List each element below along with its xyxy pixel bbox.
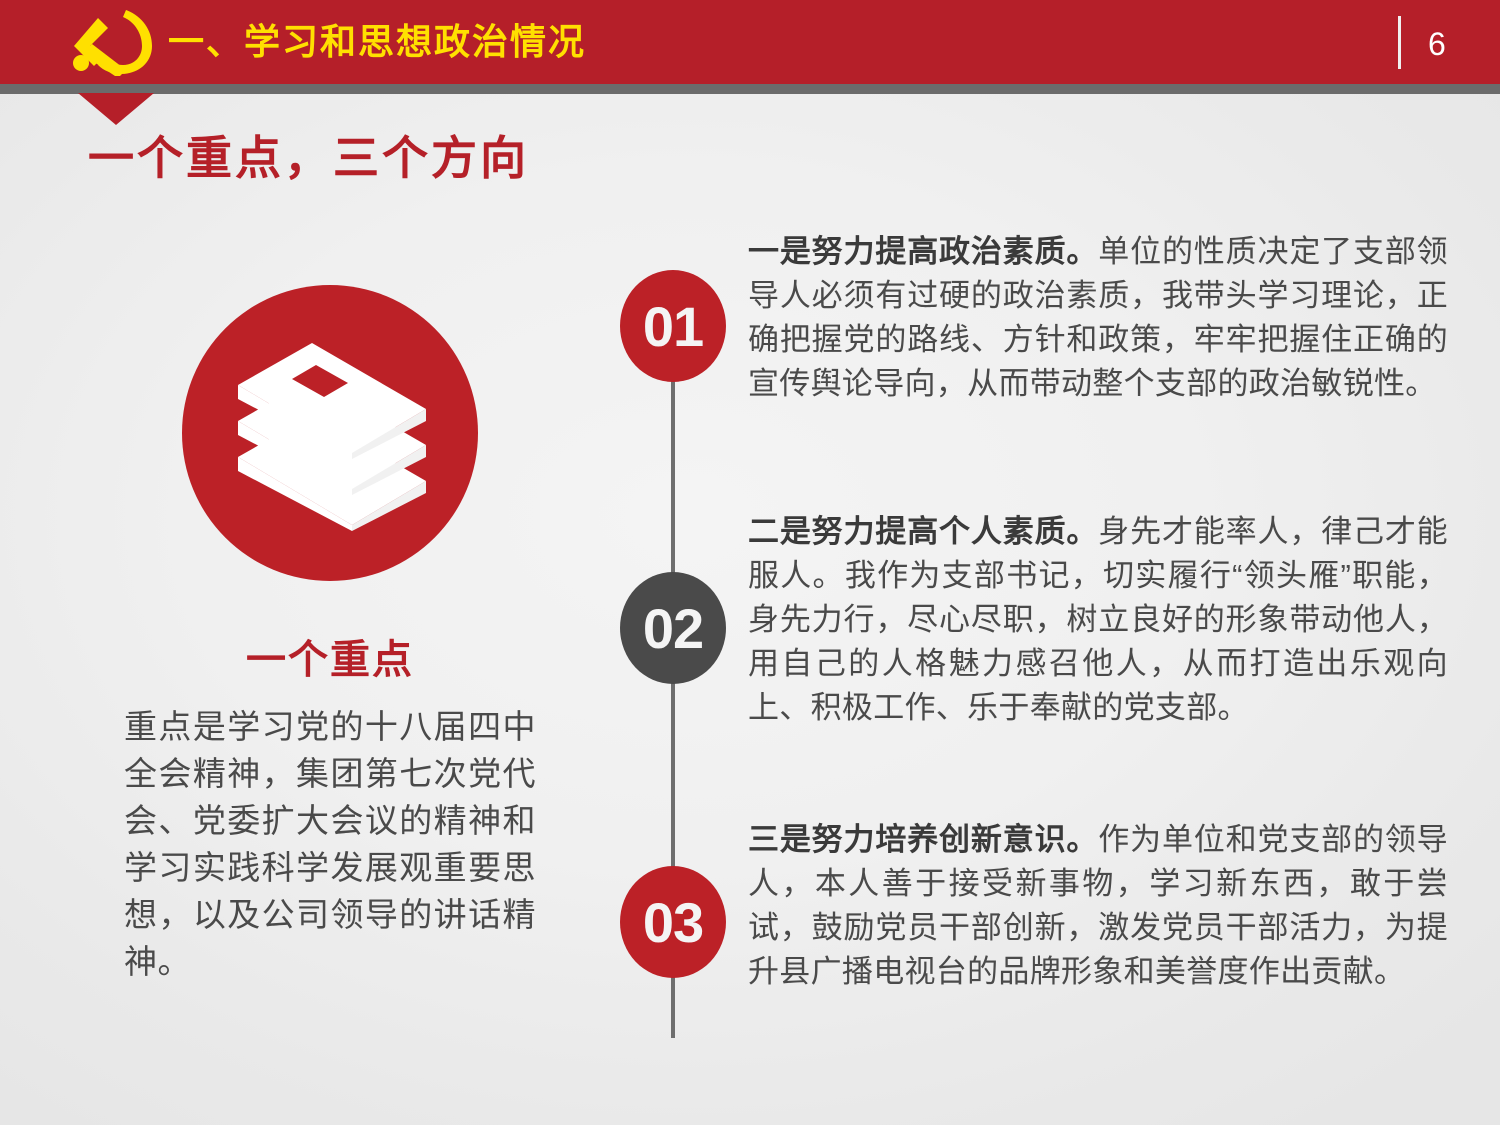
page-title: 一个重点，三个方向 (88, 128, 529, 188)
timeline-text-01: 一是努力提高政治素质。单位的性质决定了支部领导人必须有过硬的政治素质，我带头学习… (748, 230, 1448, 406)
header-underline-strip (0, 84, 1500, 94)
page-number-divider (1398, 16, 1401, 69)
book-stack-icon (182, 285, 478, 581)
timeline-badge-03[interactable]: 03 (620, 866, 726, 978)
hammer-sickle-party-emblem-icon (68, 8, 154, 76)
header-bar: 一、学习和思想政治情况 6 (0, 0, 1500, 84)
timeline-text-02: 二是努力提高个人素质。身先才能率人，律己才能服人。我作为支部书记，切实履行“领头… (748, 510, 1448, 730)
timeline-list: 01 一是努力提高政治素质。单位的性质决定了支部领导人必须有过硬的政治素质，我带… (620, 230, 1460, 1060)
left-panel-body-text: 重点是学习党的十八届四中全会精神，集团第七次党代会、党委扩大会议的精神和学习实践… (100, 703, 560, 985)
left-panel: 一个重点 重点是学习党的十八届四中全会精神，集团第七次党代会、党委扩大会议的精神… (100, 285, 560, 985)
left-panel-subtitle: 一个重点 (100, 627, 560, 685)
section-title: 一、学习和思想政治情况 (168, 20, 586, 64)
timeline-lead-03: 三是努力培养创新意识。 (748, 822, 1098, 857)
timeline-lead-01: 一是努力提高政治素质。 (748, 234, 1098, 269)
timeline-badge-02[interactable]: 02 (620, 572, 726, 684)
timeline-badge-01[interactable]: 01 (620, 270, 726, 382)
timeline-lead-02: 二是努力提高个人素质。 (748, 514, 1098, 549)
page-number: 6 (1428, 26, 1446, 62)
timeline-text-03: 三是努力培养创新意识。作为单位和党支部的领导人，本人善于接受新事物，学习新东西，… (748, 818, 1448, 994)
header-pointer-triangle-icon (78, 93, 154, 125)
